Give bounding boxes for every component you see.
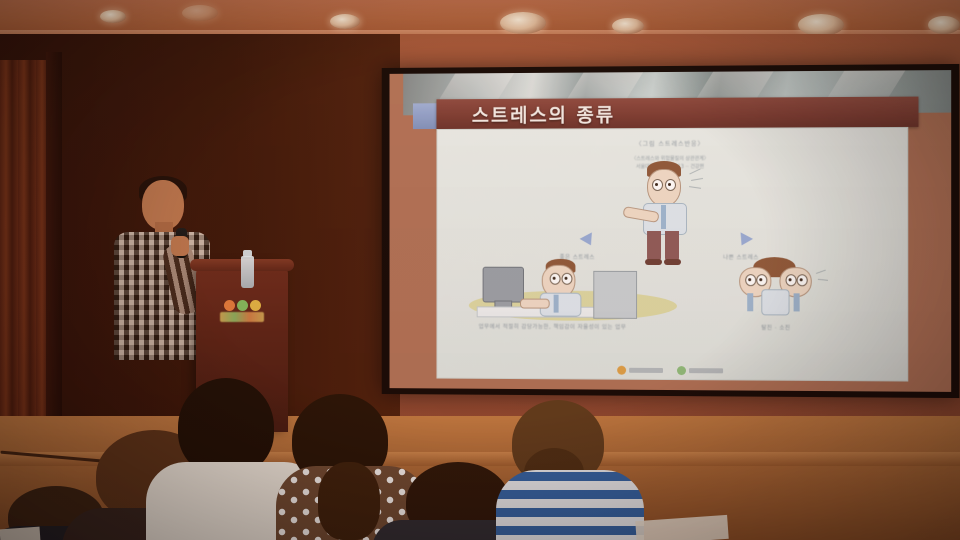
label-right-caption: 탈진 · 소진 [761,323,790,331]
speaker-hand [171,236,189,256]
label-left-caption: 업무에서 적절히 감당가능한, 책임감이 자율성이 있는 업무 [479,322,627,331]
ceiling-downlight [330,14,360,29]
organization-logo-icon [677,366,686,375]
projection-screen-frame: 스트레스의 종류 〈그림 스트레스반응〉 〈스트레스와 위험물질의 상관관계〉 … [382,64,960,398]
stage-curtain-edge [46,52,62,437]
water-bottle [241,256,254,288]
ceiling-downlight [612,18,644,34]
ceiling-downlight [928,16,960,34]
cartoon-stressed-man [463,158,881,159]
slide-title: 스트레스의 종류 [472,100,615,128]
label-bad-stress: 나쁜 스트레스 [723,253,759,261]
ceiling-downlight [500,12,546,34]
photo-scene: 스트레스의 종류 〈그림 스트레스반응〉 〈스트레스와 위험물질의 상관관계〉 … [0,0,960,540]
podium-logo-blob [237,300,248,311]
ceiling-downlight [100,10,126,23]
projection-screen: 스트레스의 종류 〈그림 스트레스반응〉 〈스트레스와 위험물질의 상관관계〉 … [390,70,952,392]
slide-title-bar: 스트레스의 종류 [436,97,918,129]
organization-logo-icon [617,366,626,375]
cartoon-office-scene [463,158,881,159]
slide-illustration: 좋은 스트레스 나쁜 스트레스 [463,158,881,340]
podium-logo-text [220,312,264,322]
slide-caption: 〈그림 스트레스반응〉 [437,138,907,149]
slide-footer-logos [437,365,907,377]
podium-logo-blob [250,300,261,311]
footer-logo-2 [677,366,723,375]
podium-logo [214,294,270,328]
ceiling-downlight [798,14,844,36]
arrow-bad-stress [735,232,753,248]
podium-logo-blob [224,300,235,311]
ceiling-downlight [182,5,218,21]
slide-body: 〈그림 스트레스반응〉 〈스트레스와 위험물질의 상관관계〉 서울대학교병원, … [436,127,908,382]
footer-logo-1 [617,366,663,375]
cartoon-exhausted-pair [463,158,881,159]
handout-paper [0,527,40,540]
arrow-good-stress [580,232,597,248]
